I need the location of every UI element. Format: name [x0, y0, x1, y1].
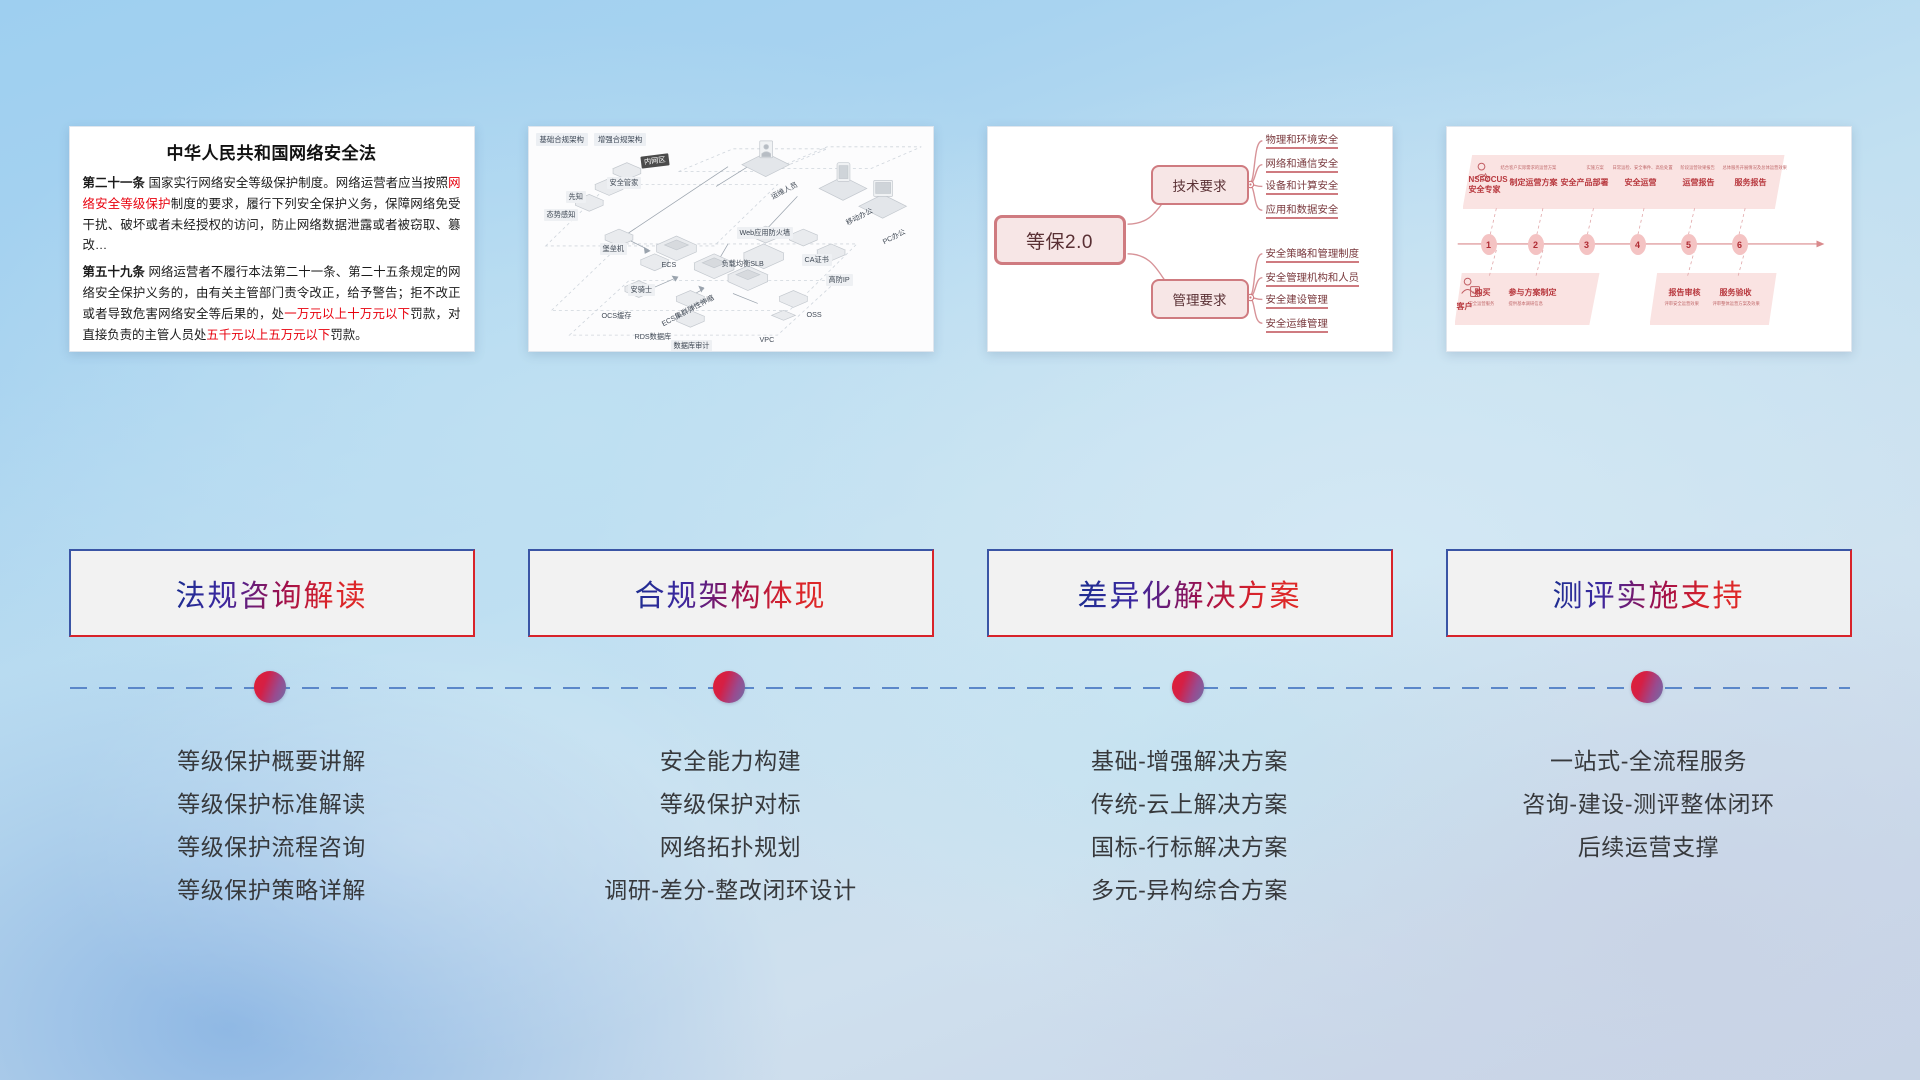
list-item[interactable]: 后续运营支撑 — [1446, 826, 1852, 869]
step-subtitle: 评审整体运营方案及效果 — [1713, 301, 1760, 307]
list-item[interactable]: 咨询-建设-测评整体闭环 — [1446, 783, 1852, 826]
headline-box-regulation-consulting[interactable]: 法规咨询解读 — [69, 549, 475, 637]
node-label-ca-certificate: CA证书 — [802, 254, 832, 266]
list-item[interactable]: 基础-增强解决方案 — [987, 740, 1393, 783]
step-subtitle: 总体服务开展情况及总体运营效果 — [1723, 165, 1787, 171]
law-content: 中华人民共和国网络安全法 第二十一条 国家实行网络安全等级保护制度。网络运营者应… — [70, 127, 474, 352]
node-label-oss: OSS — [804, 309, 825, 320]
mindmap-root-node[interactable]: 等保2.0 — [994, 215, 1126, 265]
step-number: 5 — [1681, 234, 1697, 255]
step-number: 1 — [1481, 234, 1497, 255]
law-title: 中华人民共和国网络安全法 — [83, 139, 461, 164]
node-label-database-audit: 数据库审计 — [671, 340, 713, 352]
step-title: 运营报告 — [1683, 177, 1715, 188]
law-run-highlight: 五千元以上五万元以下 — [206, 328, 330, 342]
step-title: 服务报告 — [1735, 177, 1767, 188]
architecture-preview-card[interactable]: 基础合规架构 增强合规架构 — [528, 126, 934, 352]
step-subtitle: 评审安全运营效果 — [1665, 301, 1699, 307]
list-item[interactable]: 安全能力构建 — [528, 740, 934, 783]
list-item[interactable]: 等级保护流程咨询 — [69, 826, 475, 869]
node-label-rds-database: RDS数据库 — [632, 331, 675, 343]
list-item[interactable]: 等级保护概要讲解 — [69, 740, 475, 783]
timeline-dashed-line — [70, 687, 1850, 689]
step-subtitle: 安全运营服务 — [1469, 301, 1495, 307]
architecture-nodes — [529, 127, 933, 351]
preview-cards-row: 中华人民共和国网络安全法 第二十一条 国家实行网络安全等级保护制度。网络运营者应… — [0, 126, 1920, 446]
step-title: 安全产品部署 — [1561, 177, 1609, 188]
step-title: 服务验收 — [1720, 287, 1752, 298]
timeline-dot-3[interactable] — [1172, 671, 1204, 703]
step-title: 安全运营 — [1625, 177, 1657, 188]
node-label-ocs-cache: OCS缓存 — [599, 310, 635, 322]
law-article-label: 第五十九条 — [83, 265, 145, 279]
mindmap-leaf[interactable]: 物理和环境安全 — [1266, 131, 1339, 149]
node-label-waf: Web应用防火墙 — [737, 227, 794, 239]
law-preview-card[interactable]: 中华人民共和国网络安全法 第二十一条 国家实行网络安全等级保护制度。网络运营者应… — [69, 126, 475, 352]
node-label-situational-awareness: 态势感知 — [544, 209, 579, 221]
headline-label: 法规咨询解读 — [176, 571, 368, 615]
headline-label: 差异化解决方案 — [1078, 571, 1302, 615]
detail-lists-row: 等级保护概要讲解 等级保护标准解读 等级保护流程咨询 等级保护策略详解 安全能力… — [0, 740, 1920, 912]
list-item[interactable]: 等级保护标准解读 — [69, 783, 475, 826]
list-item[interactable]: 多元-异构综合方案 — [987, 869, 1393, 912]
step-title: 制定运营方案 — [1510, 177, 1558, 188]
step-subtitle: 结合客户实际需求的运营方案 — [1501, 165, 1557, 171]
mindmap-leaf[interactable]: 网络和通信安全 — [1266, 155, 1339, 173]
step-subtitle: 日常运检、安全事件、高危处置 — [1613, 165, 1673, 171]
headline-row: 法规咨询解读 合规架构体现 差异化解决方案 测评实施支持 — [0, 549, 1920, 637]
node-label-security-butler: 安全管家 — [607, 177, 642, 189]
mindmap-leaf[interactable]: 设备和计算安全 — [1266, 177, 1339, 195]
step-number: 2 — [1528, 234, 1544, 255]
step-number: 3 — [1579, 234, 1595, 255]
law-article-label: 第二十一条 — [83, 176, 145, 190]
node-label-aegis: 安骑士 — [628, 284, 656, 296]
step-number: 6 — [1732, 234, 1748, 255]
nsfocus-timeline-axis — [1447, 127, 1851, 351]
step-subtitle: 提供基本调研信息 — [1509, 301, 1543, 307]
headline-label: 测评实施支持 — [1553, 571, 1745, 615]
law-paragraph: 第二十一条 国家实行网络安全等级保护制度。网络运营者应当按照网络安全等级保护制度… — [83, 173, 461, 256]
node-label-ecs: ECS — [659, 259, 680, 270]
headline-box-compliance-architecture[interactable]: 合规架构体现 — [528, 549, 934, 637]
mindmap-preview-card[interactable]: 等保2.0 技术要求 管理要求 物理和环境安全 网络和通信安全 设备和计算安全 … — [987, 126, 1393, 352]
node-label-slb: 负载均衡SLB — [719, 258, 767, 270]
timeline-dot-4[interactable] — [1631, 671, 1663, 703]
list-item[interactable]: 一站式-全流程服务 — [1446, 740, 1852, 783]
step-title: 参与方案制定 — [1509, 287, 1557, 298]
list-item[interactable]: 国标-行标解决方案 — [987, 826, 1393, 869]
law-run-text: 罚款。 — [330, 328, 367, 342]
headline-box-evaluation-support[interactable]: 测评实施支持 — [1446, 549, 1852, 637]
law-paragraph: 第五十九条 网络运营者不履行本法第二十一条、第二十五条规定的网络安全保护义务的，… — [83, 262, 461, 345]
mindmap-branch-management[interactable]: 管理要求 — [1151, 279, 1249, 319]
node-label-vpc: VPC — [757, 334, 778, 345]
timeline-dot-1[interactable] — [254, 671, 286, 703]
mindmap-diagram: 等保2.0 技术要求 管理要求 物理和环境安全 网络和通信安全 设备和计算安全 … — [988, 127, 1392, 351]
headline-box-differentiated-solution[interactable]: 差异化解决方案 — [987, 549, 1393, 637]
vendor-role-label: NSFOCUS 安全专家 — [1469, 175, 1508, 195]
nsfocus-preview-card[interactable]: NSFOCUS 安全专家 客户 结合客户实际需求的运营方案 制定运营方案 实施方… — [1446, 126, 1852, 352]
list-item[interactable]: 网络拓扑规划 — [528, 826, 934, 869]
list-item[interactable]: 等级保护策略详解 — [69, 869, 475, 912]
mindmap-leaf[interactable]: 安全策略和管理制度 — [1266, 245, 1360, 263]
node-label-anti-ddos-ip: 高防IP — [826, 274, 853, 286]
law-run-text: 国家实行网络安全等级保护制度。网络运营者应当按照 — [145, 176, 448, 190]
node-label-xianzhi: 先知 — [566, 191, 586, 203]
node-label-bastion-host: 堡垒机 — [600, 243, 628, 255]
detail-list-differentiated-solution: 基础-增强解决方案 传统-云上解决方案 国标-行标解决方案 多元-异构综合方案 — [987, 740, 1393, 912]
law-run-highlight: 一万元以上十万元以下 — [284, 307, 410, 321]
list-item[interactable]: 调研-差分-整改闭环设计 — [528, 869, 934, 912]
mindmap-leaf[interactable]: 安全运维管理 — [1266, 315, 1328, 333]
step-title: 购买 — [1475, 287, 1491, 298]
detail-list-evaluation-support: 一站式-全流程服务 咨询-建设-测评整体闭环 后续运营支撑 — [1446, 740, 1852, 912]
timeline — [0, 686, 1920, 690]
step-subtitle: 阶段运营效果报告 — [1681, 165, 1715, 171]
mindmap-leaf[interactable]: 安全管理机构和人员 — [1266, 269, 1360, 287]
mindmap-leaf[interactable]: 应用和数据安全 — [1266, 201, 1339, 219]
nsfocus-timeline-diagram: NSFOCUS 安全专家 客户 结合客户实际需求的运营方案 制定运营方案 实施方… — [1447, 127, 1851, 351]
list-item[interactable]: 传统-云上解决方案 — [987, 783, 1393, 826]
mindmap-branch-technical[interactable]: 技术要求 — [1151, 165, 1249, 205]
detail-list-compliance-architecture: 安全能力构建 等级保护对标 网络拓扑规划 调研-差分-整改闭环设计 — [528, 740, 934, 912]
step-subtitle: 实施方案 — [1587, 165, 1604, 171]
step-title: 报告审核 — [1669, 287, 1701, 298]
architecture-diagram: 基础合规架构 增强合规架构 — [529, 127, 933, 351]
mindmap-leaf[interactable]: 安全建设管理 — [1266, 291, 1328, 309]
list-item[interactable]: 等级保护对标 — [528, 783, 934, 826]
headline-label: 合规架构体现 — [635, 571, 827, 615]
detail-list-regulation-consulting: 等级保护概要讲解 等级保护标准解读 等级保护流程咨询 等级保护策略详解 — [69, 740, 475, 912]
timeline-dot-2[interactable] — [713, 671, 745, 703]
step-number: 4 — [1630, 234, 1646, 255]
